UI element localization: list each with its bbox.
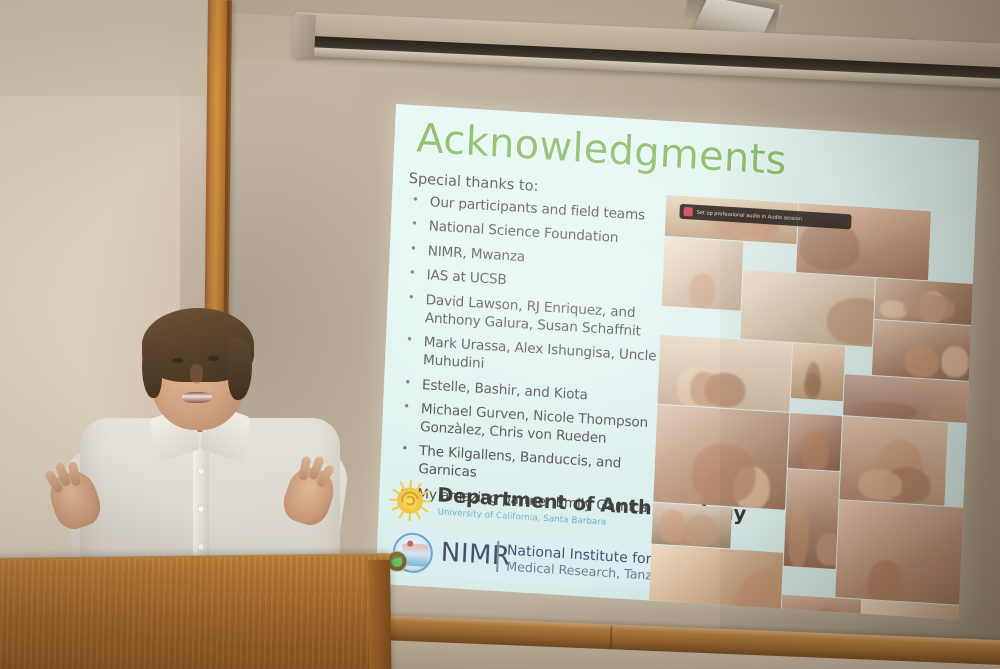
collage-figure [689,273,716,310]
collage-figure [802,431,830,471]
presenter-eye-right [208,356,219,361]
slide-surface: Acknowledgments Special thanks to: Our p… [375,104,979,620]
projected-slide: Acknowledgments Special thanks to: Our p… [375,104,979,620]
collage-figure [676,365,716,409]
nimr-logo: NIMR National Institute for Medical Rese… [386,528,677,592]
presenter-nose [190,364,203,384]
collage-figure [732,465,771,510]
photo-collage [649,195,979,620]
collage-figure [941,346,969,378]
collage-figure [904,345,940,379]
collage-photo [651,503,731,549]
wood-grain [0,555,391,669]
slide-subtitle: Special thanks to: [408,171,538,195]
collage-photo [874,278,979,325]
collage-photo [657,335,792,412]
collage-figure [903,292,955,322]
collage-photo [872,320,979,381]
acknowledgment-list: Our participants and field teams Nationa… [395,193,688,526]
collage-figure [804,373,820,397]
collage-figure [732,222,765,240]
collage-figure [805,362,822,400]
collage-figure [691,442,756,505]
collage-photo [662,237,744,311]
sun-spiral-icon [388,478,432,523]
collage-figure [884,465,932,503]
collage-photo [788,413,842,471]
presenter-mouth [182,392,212,403]
collage-photo [843,374,976,423]
nimr-acronym: NIMR [440,538,511,572]
podium-side-edge [368,560,391,669]
collage-figure [930,406,964,423]
collage-photo [791,343,845,401]
collage-figure [704,372,745,408]
collage-figure [919,291,946,322]
collage-figure [659,509,687,544]
collage-figure [867,559,904,605]
collage-figure [655,447,708,510]
presentation-room-photo: Acknowledgments Special thanks to: Our p… [0,0,1000,669]
collage-figure [684,514,718,548]
podium [0,555,391,669]
collage-figure [874,438,923,501]
collage-photo [740,270,875,347]
collage-figure [879,299,908,319]
collage-photo [840,416,949,505]
valance-endcap [292,14,316,59]
collage-figure [826,296,875,347]
collage-photo [653,405,789,510]
collage-banner-text: Set up professional audio in Audio sessi… [697,209,803,222]
collage-figure [858,468,903,500]
presenter-eye-left [172,358,183,363]
collage-photo [784,469,840,569]
collage-figure [689,371,719,407]
presenter-hair-right [228,338,252,400]
collage-photo [835,500,971,605]
record-dot-icon [683,207,692,217]
collage-figure [788,502,810,568]
presenter-hair-left [142,340,162,398]
